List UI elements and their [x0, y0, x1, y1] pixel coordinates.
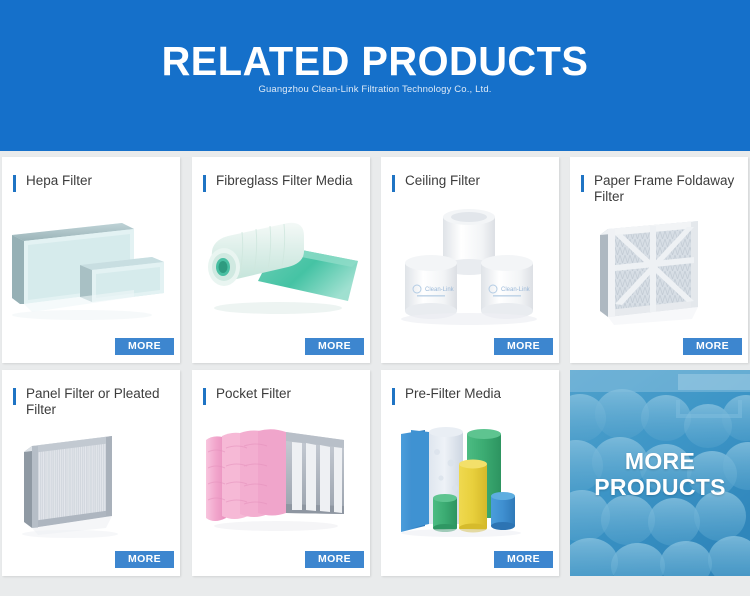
more-button[interactable]: MORE [305, 551, 364, 568]
accent-bar-icon [581, 175, 584, 192]
card-title: Panel Filter or Pleated Filter [13, 386, 170, 418]
product-title: Panel Filter or Pleated Filter [26, 386, 170, 418]
product-title: Fibreglass Filter Media [216, 173, 353, 189]
accent-bar-icon [392, 175, 395, 192]
product-card-panel-or-pleated-filter[interactable]: Panel Filter or Pleated Filter [2, 370, 180, 576]
product-row: Panel Filter or Pleated Filter [0, 370, 750, 576]
product-card-paper-frame-foldaway-filter[interactable]: Paper Frame Foldaway Filter [570, 157, 748, 363]
hepa-filter-image [2, 205, 180, 330]
accent-bar-icon [13, 388, 16, 405]
svg-text:Clean-Link: Clean-Link [425, 287, 455, 293]
pocket-filter-image [192, 418, 370, 543]
ceiling-filter-rolls-image: Clean-Link Clean-Link [381, 205, 559, 330]
fibreglass-roll-image [192, 205, 370, 330]
product-title: Pre-Filter Media [405, 386, 501, 402]
card-title: Fibreglass Filter Media [203, 173, 360, 192]
prefilter-media-rolls-image [381, 418, 559, 543]
more-button[interactable]: MORE [115, 338, 174, 355]
card-title: Pre-Filter Media [392, 386, 549, 405]
svg-text:Clean-Link: Clean-Link [501, 287, 531, 293]
paper-frame-filter-image [570, 215, 748, 330]
more-button[interactable]: MORE [683, 338, 742, 355]
promo-line-1: MORE [570, 448, 750, 474]
more-button[interactable]: MORE [494, 551, 553, 568]
more-products-label: MORE PRODUCTS [570, 448, 750, 500]
panel-pleated-filter-image [2, 428, 180, 543]
card-title: Hepa Filter [13, 173, 170, 192]
accent-bar-icon [13, 175, 16, 192]
accent-bar-icon [203, 175, 206, 192]
product-title: Pocket Filter [216, 386, 291, 402]
company-subtitle: Guangzhou Clean-Link Filtration Technolo… [0, 84, 750, 95]
promo-line-2: PRODUCTS [570, 474, 750, 500]
more-button[interactable]: MORE [115, 551, 174, 568]
product-row: Hepa Filter [0, 157, 750, 363]
product-card-pre-filter-media[interactable]: Pre-Filter Media [381, 370, 559, 576]
product-title: Ceiling Filter [405, 173, 480, 189]
product-title: Hepa Filter [26, 173, 92, 189]
accent-bar-icon [203, 388, 206, 405]
product-card-hepa-filter[interactable]: Hepa Filter [2, 157, 180, 363]
card-title: Paper Frame Foldaway Filter [581, 173, 738, 205]
card-title: Pocket Filter [203, 386, 360, 405]
more-button[interactable]: MORE [305, 338, 364, 355]
more-button[interactable]: MORE [494, 338, 553, 355]
product-title: Paper Frame Foldaway Filter [594, 173, 738, 205]
accent-bar-icon [392, 388, 395, 405]
product-card-fibreglass-filter-media[interactable]: Fibreglass Filter Media [192, 157, 370, 363]
more-products-panel[interactable]: MORE PRODUCTS [570, 370, 750, 576]
product-card-ceiling-filter[interactable]: Ceiling Filter [381, 157, 559, 363]
page-header: RELATED PRODUCTS Guangzhou Clean-Link Fi… [0, 0, 750, 151]
page-title: RELATED PRODUCTS [11, 39, 739, 83]
product-grid: Hepa Filter [0, 157, 750, 596]
card-title: Ceiling Filter [392, 173, 549, 192]
related-products-page: RELATED PRODUCTS Guangzhou Clean-Link Fi… [0, 0, 750, 596]
product-card-pocket-filter[interactable]: Pocket Filter [192, 370, 370, 576]
